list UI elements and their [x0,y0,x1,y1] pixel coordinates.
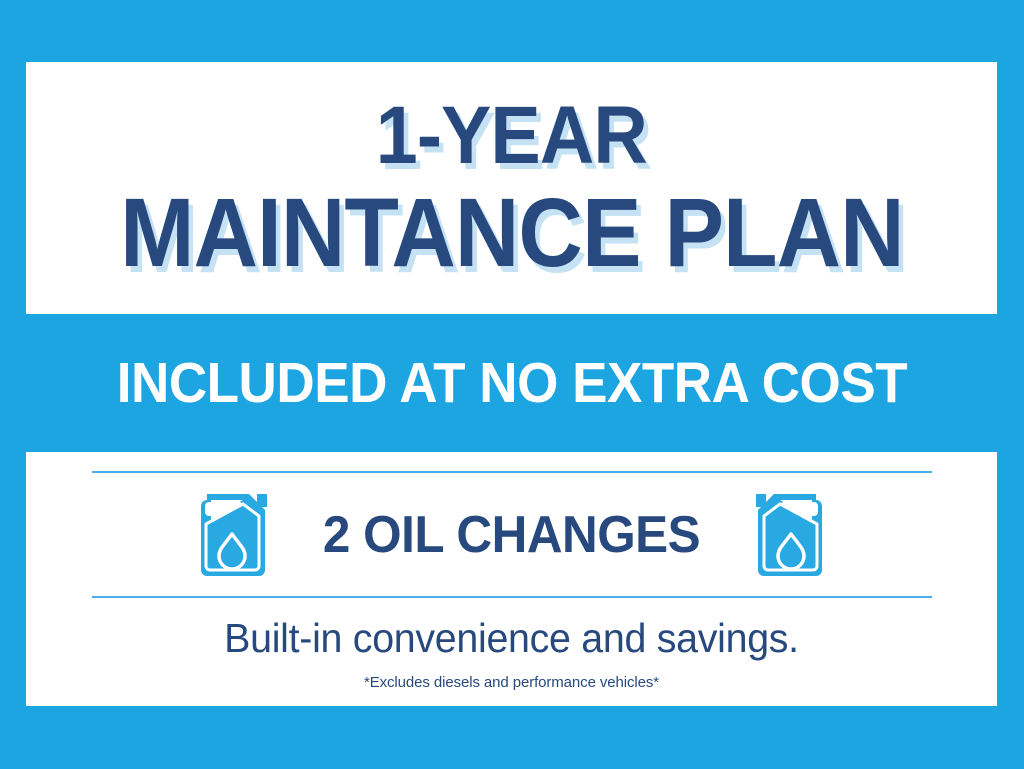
promo-poster: 1-YEAR MAINTANCE PLAN INCLUDED AT NO EXT… [0,0,1024,769]
subtitle-text: INCLUDED AT NO EXTRA COST [116,350,906,416]
headline-line-1: 1-YEAR [376,96,647,176]
offer-card: 2 OIL CHANGES Built-in convenience and s… [26,452,997,706]
disclaimer: *Excludes diesels and performance vehicl… [26,674,997,691]
oil-jug-icon-left [197,488,269,582]
oil-jug-icon-right [754,488,826,582]
subtitle-band: INCLUDED AT NO EXTRA COST [26,314,997,452]
tagline: Built-in convenience and savings. [45,615,977,662]
headline-line-2: MAINTANCE PLAN [120,185,904,280]
headline-card: 1-YEAR MAINTANCE PLAN [26,62,997,314]
divider-bottom [92,596,932,598]
offer-row: 2 OIL CHANGES [26,473,997,596]
offer-text: 2 OIL CHANGES [323,505,700,565]
